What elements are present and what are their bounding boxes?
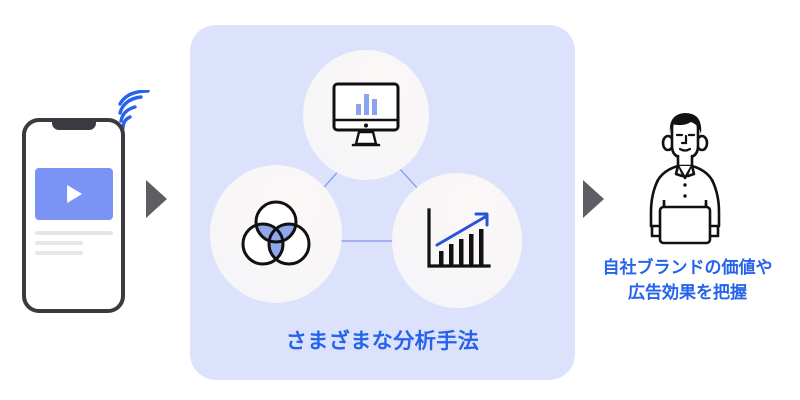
- play-icon[interactable]: [67, 185, 82, 203]
- node-growth-chart[interactable]: [392, 173, 522, 308]
- growth-bar-chart-arrow-icon: [419, 204, 495, 278]
- outcome-caption-line-2: 広告効果を把握: [580, 281, 795, 306]
- outcome-caption-line-1: 自社ブランドの価値や: [580, 256, 795, 281]
- placeholder-line: [35, 241, 83, 245]
- diagram-canvas: さまざまな分析手法: [0, 0, 800, 400]
- placeholder-line: [35, 251, 83, 255]
- placeholder-line: [35, 231, 113, 235]
- phone-frame: [22, 118, 125, 313]
- triangle-right-icon-2: [583, 180, 604, 218]
- person-with-laptop-illustration: [620, 108, 750, 248]
- person-laptop-icon: [620, 108, 750, 248]
- triangle-right-icon-1: [146, 180, 167, 218]
- video-thumbnail[interactable]: [35, 168, 113, 220]
- desktop-monitor-bar-chart-icon: [329, 80, 403, 150]
- outcome-caption: 自社ブランドの価値や 広告効果を把握: [580, 256, 795, 305]
- smartphone-illustration: [12, 90, 157, 330]
- venn-diagram-icon: [239, 198, 313, 270]
- panel-caption: さまざまな分析手法: [190, 325, 575, 355]
- node-monitor[interactable]: [303, 50, 429, 180]
- node-venn[interactable]: [210, 165, 342, 303]
- phone-screen: [26, 122, 121, 309]
- content-placeholder-lines: [35, 231, 112, 255]
- analysis-methods-panel: さまざまな分析手法: [190, 25, 575, 380]
